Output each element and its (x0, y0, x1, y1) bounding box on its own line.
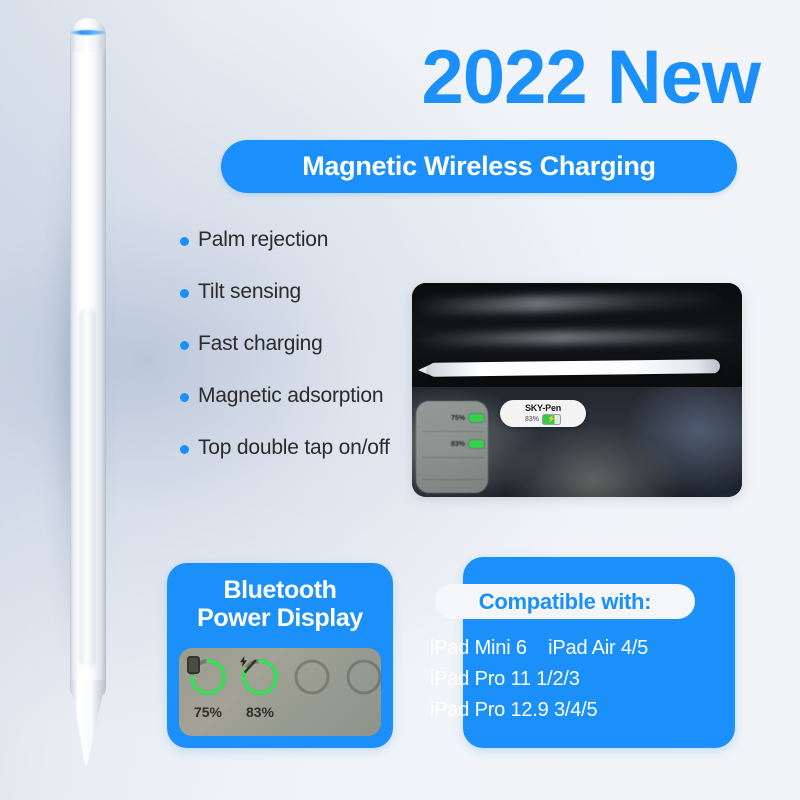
product-infographic: 2022 New Magnetic Wireless Charging Palm… (0, 0, 800, 800)
battery-charging-icon: ⚡ (542, 414, 561, 425)
widget-row: 83% (451, 440, 484, 448)
product-photo-inset: 75% 83% SKY-Pen 83% ⚡ (412, 283, 742, 497)
tablet-icon (187, 656, 229, 698)
battery-icon (469, 414, 484, 422)
feature-label: Fast charging (198, 330, 323, 358)
tablet-edge-highlight (418, 291, 718, 315)
photo-tablet-edge-region (412, 283, 742, 387)
widget-divider (422, 431, 484, 432)
battery-rings-group (187, 656, 385, 698)
pairing-percent: 83% (525, 416, 539, 423)
feature-banner-label: Magnetic Wireless Charging (302, 151, 656, 182)
list-item: Magnetic adsorption (180, 382, 400, 412)
compatible-device-list: iPad Mini 6 iPad Air 4/5 iPad Pro 11 1/2… (430, 633, 730, 726)
compatible-device-line: iPad Pro 12.9 3/4/5 (430, 695, 730, 726)
feature-label: Palm rejection (198, 226, 328, 254)
widget-divider (422, 479, 484, 480)
feature-label: Top double tap on/off (198, 434, 390, 462)
stylus-cap (70, 18, 106, 52)
bullet-dot-icon (180, 445, 189, 454)
battery-percent-stylus: 83% (239, 704, 281, 720)
bullet-dot-icon (180, 289, 189, 298)
pairing-status-row: 83% ⚡ (525, 414, 561, 425)
tablet-edge-highlight (422, 329, 728, 346)
photo-battery-widget: 75% 83% (416, 401, 488, 493)
compatible-devices-card: Compatible with: iPad Mini 6 iPad Air 4/… (463, 557, 735, 748)
widget-divider (422, 457, 484, 458)
compatible-device-line: iPad Mini 6 iPad Air 4/5 (430, 633, 730, 664)
battery-percent-group: 75% 83% (187, 704, 281, 720)
bullet-dot-icon (180, 341, 189, 350)
bluetooth-card-title: Bluetooth Power Display (167, 576, 393, 632)
pairing-popup: SKY-Pen 83% ⚡ (500, 400, 586, 427)
feature-banner: Magnetic Wireless Charging (221, 140, 737, 193)
photo-stylus-attached (428, 359, 720, 377)
bullet-dot-icon (180, 393, 189, 402)
battery-ring-empty (343, 656, 385, 698)
lightning-bolt-icon (239, 656, 281, 699)
battery-status-panel: 75% 83% (179, 648, 381, 736)
feature-label: Magnetic adsorption (198, 382, 383, 410)
compatible-device-line: iPad Pro 11 1/2/3 (430, 664, 730, 695)
widget-percent: 83% (451, 441, 465, 448)
feature-label: Tilt sensing (198, 278, 301, 306)
compatible-heading-pill: Compatible with: (435, 584, 695, 619)
list-item: Top double tap on/off (180, 434, 400, 464)
battery-icon (469, 440, 484, 448)
stylus-product-image (66, 8, 110, 768)
stylus-flat-edge (79, 308, 96, 668)
battery-ring-empty (291, 656, 333, 698)
feature-list: Palm rejection Tilt sensing Fast chargin… (180, 226, 400, 486)
list-item: Palm rejection (180, 226, 400, 256)
widget-percent: 75% (451, 415, 465, 422)
list-item: Fast charging (180, 330, 400, 360)
list-item: Tilt sensing (180, 278, 400, 308)
bluetooth-power-display-card: Bluetooth Power Display (167, 563, 393, 748)
battery-ring-tablet (187, 656, 229, 698)
page-title: 2022 New (300, 40, 760, 116)
pairing-device-name: SKY-Pen (525, 403, 561, 413)
photo-background-blur (704, 495, 742, 497)
stylus-tip (70, 680, 106, 766)
battery-ring-stylus (239, 656, 281, 698)
battery-percent-tablet: 75% (187, 704, 229, 720)
bullet-dot-icon (180, 237, 189, 246)
stylus-blue-accent-ring (71, 30, 105, 35)
widget-row: 75% (451, 414, 484, 422)
compatible-heading-label: Compatible with: (479, 589, 651, 615)
